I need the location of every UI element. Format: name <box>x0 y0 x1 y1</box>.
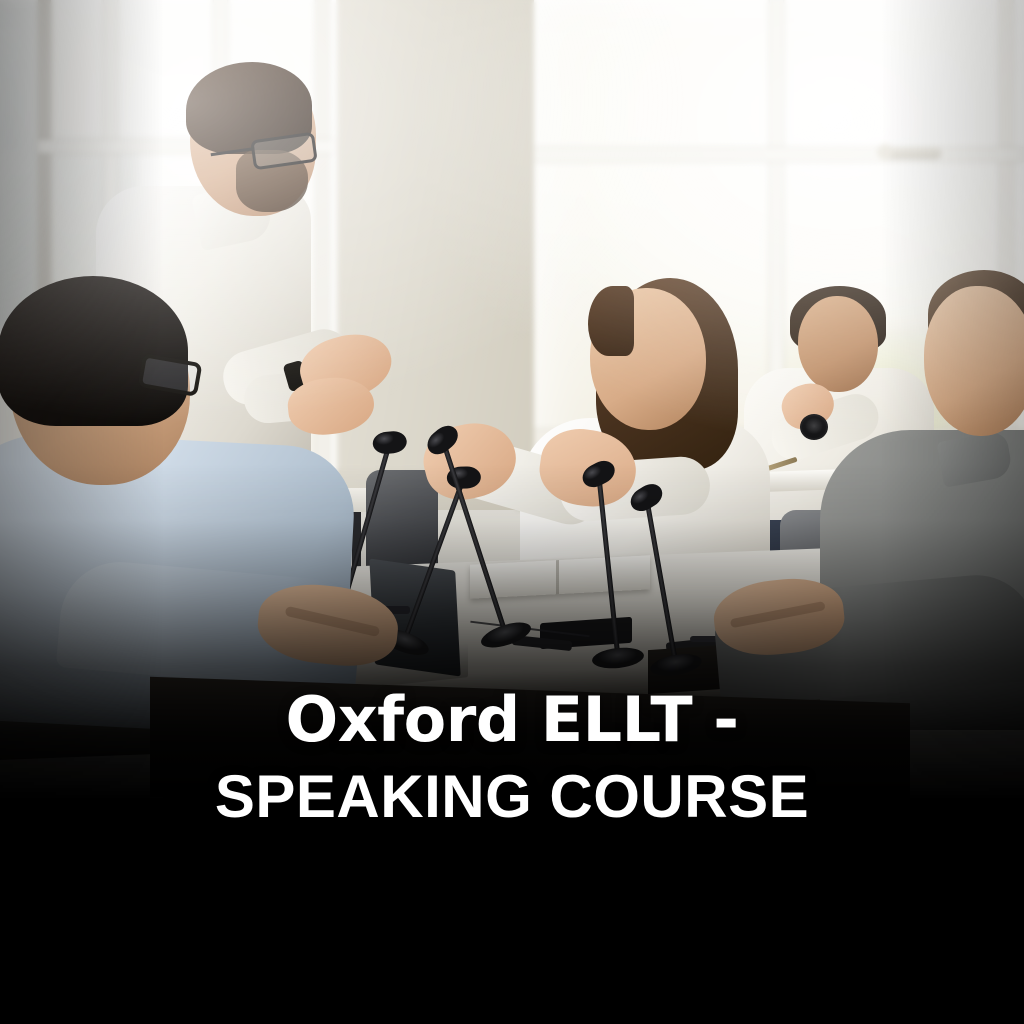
wristwatch-icon <box>800 414 828 440</box>
classroom-photograph <box>0 0 1024 1024</box>
poster-canvas: Oxford ELLT - SPEAKING COURSE <box>0 0 1024 1024</box>
woman-hair-front <box>588 286 634 356</box>
window-latch-icon <box>885 147 941 158</box>
title-block: Oxford ELLT - SPEAKING COURSE <box>0 688 1024 828</box>
window-mullion <box>530 148 1024 161</box>
left-student-hair <box>0 276 188 426</box>
title-line-1: Oxford ELLT - <box>0 688 1024 752</box>
window-mullion <box>316 0 329 520</box>
title-line-2: SPEAKING COURSE <box>0 766 1024 828</box>
city-building <box>0 30 20 150</box>
student-back-head <box>798 296 878 392</box>
